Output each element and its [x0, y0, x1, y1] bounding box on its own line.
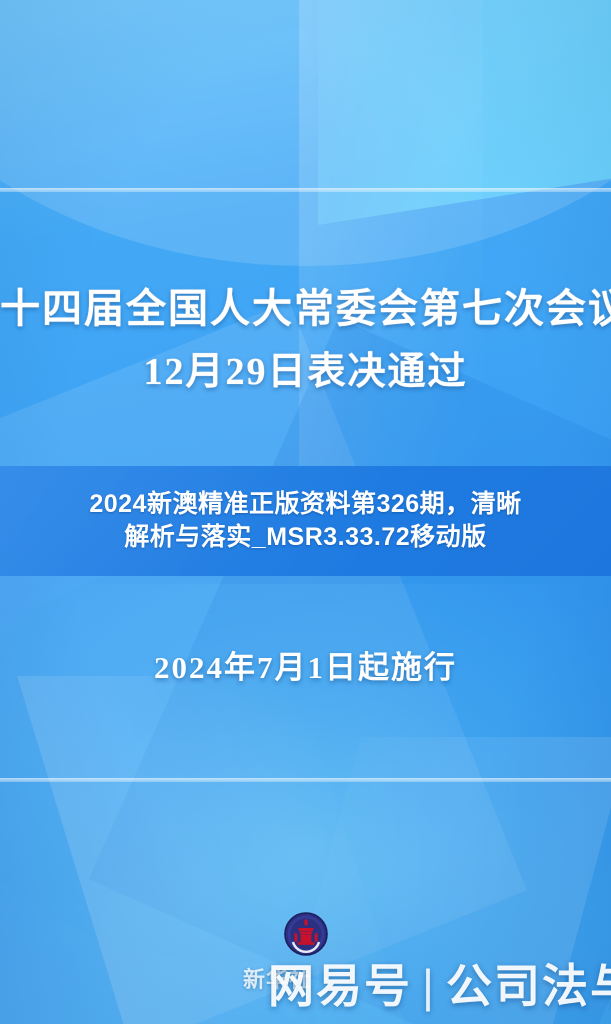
overlay-title-text: 2024新澳精准正版资料第326期，清晰 解析与落实_MSR3.33.72移动版: [73, 488, 537, 554]
watermark-channel-strip: 网易号 | 公司法与税: [268, 950, 611, 1016]
watermark-separator: |: [422, 959, 436, 1013]
watermark-channel-name: 网易号: [268, 950, 412, 1016]
watermark-column-name: 公司法与税: [446, 950, 611, 1016]
news-graphic-canvas: 十四届全国人大常委会第七次会议 12月29日表决通过 新华社记者制作 2024新…: [0, 0, 611, 1024]
overlay-title-banner: 2024新澳精准正版资料第326期，清晰 解析与落实_MSR3.33.72移动版: [0, 466, 611, 576]
divider-rule-bottom: [0, 778, 611, 782]
effective-date-text: 2024年7月1日起施行: [0, 642, 611, 687]
overlay-title-line-2: 解析与落实_MSR3.33.72移动版: [124, 523, 486, 551]
headline-line-2: 12月29日表决通过: [0, 340, 611, 395]
overlay-title-line-1: 2024新澳精准正版资料第326期，清晰: [89, 490, 521, 518]
divider-rule-top: [0, 188, 611, 192]
headline-line-1: 十四届全国人大常委会第七次会议: [0, 276, 611, 334]
